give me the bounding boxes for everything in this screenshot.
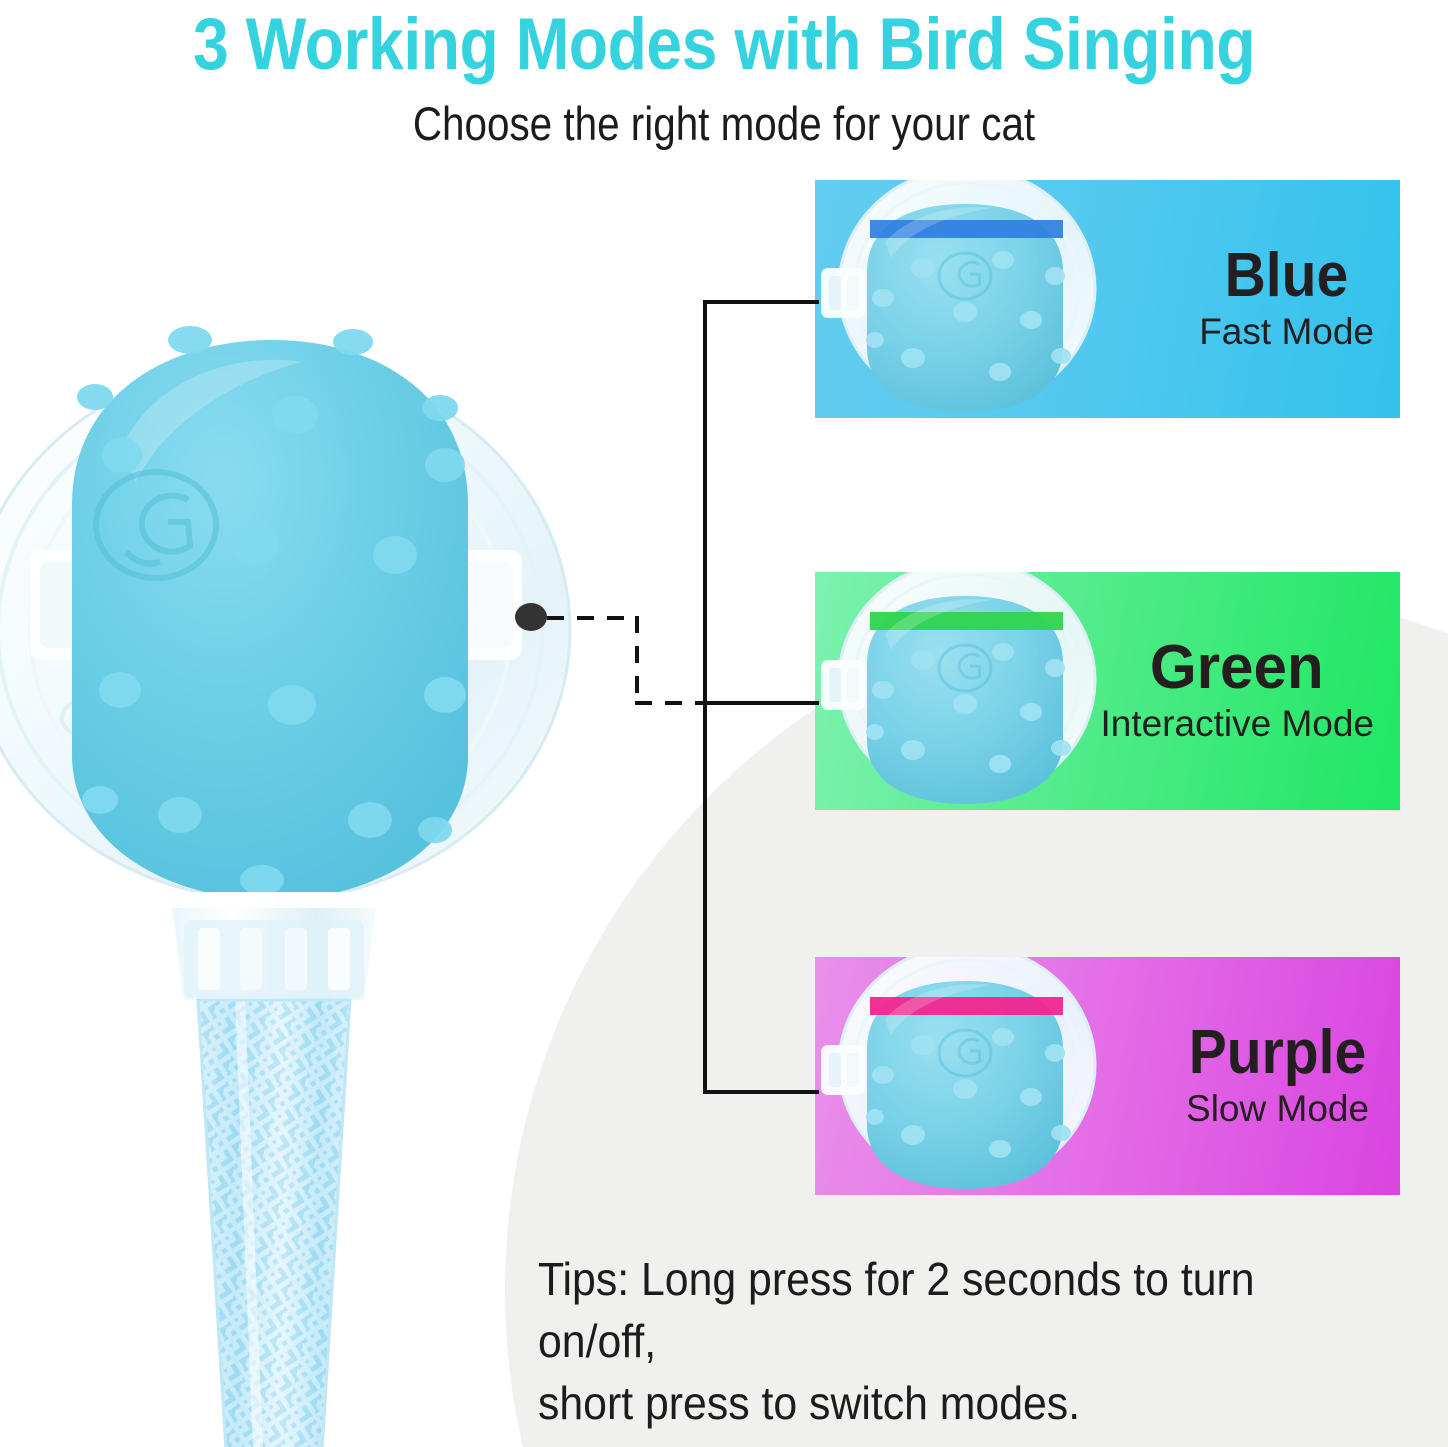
- page-subtitle: Choose the right mode for your cat: [101, 98, 1346, 150]
- bracket-vertical-line: [703, 300, 707, 1094]
- bracket-arm-purple: [703, 1090, 819, 1094]
- mode-description: Interactive Mode: [1100, 702, 1374, 746]
- tips-line-2: short press to switch modes.: [538, 1372, 1347, 1434]
- callout-dash-segment: [635, 616, 639, 705]
- mode-card-blue[interactable]: Blue Fast Mode: [815, 180, 1400, 418]
- callout-dash-segment: [635, 701, 707, 705]
- mode-label: Blue: [1206, 244, 1367, 308]
- mode-card-purple-text: Purple Slow Mode: [1181, 1021, 1374, 1131]
- clear-collar: [170, 892, 378, 1000]
- callout-dash-segment: [547, 616, 639, 620]
- header: 3 Working Modes with Bird Singing Choose…: [0, 0, 1448, 150]
- mode-description: Fast Mode: [1199, 310, 1374, 354]
- mode-card-purple[interactable]: Purple Slow Mode: [815, 957, 1400, 1195]
- product-photo-blue-mode: [815, 180, 1115, 418]
- bracket-arm-green: [703, 701, 819, 705]
- mode-description: Slow Mode: [1181, 1087, 1374, 1131]
- hero-product-image: [0, 300, 620, 1447]
- callout-dot: [515, 603, 547, 631]
- bracket-arm-blue: [703, 300, 819, 304]
- tips-line-1: Tips: Long press for 2 seconds to turn o…: [538, 1248, 1347, 1372]
- mode-card-blue-text: Blue Fast Mode: [1199, 244, 1374, 354]
- mode-label: Purple: [1189, 1021, 1367, 1085]
- product-photo-green-mode: [815, 572, 1115, 810]
- hero-product-svg: [0, 300, 620, 1447]
- mode-card-green[interactable]: Green Interactive Mode: [815, 572, 1400, 810]
- tips-block: Tips: Long press for 2 seconds to turn o…: [538, 1248, 1347, 1434]
- silicone-ball-cover: [72, 326, 468, 900]
- product-photo-purple-mode: [815, 957, 1115, 1195]
- infographic-canvas: 3 Working Modes with Bird Singing Choose…: [0, 0, 1448, 1447]
- mode-card-green-text: Green Interactive Mode: [1100, 636, 1374, 746]
- mode-label: Green: [1105, 636, 1370, 700]
- page-title: 3 Working Modes with Bird Singing: [87, 6, 1361, 84]
- braided-handle: [198, 1000, 350, 1447]
